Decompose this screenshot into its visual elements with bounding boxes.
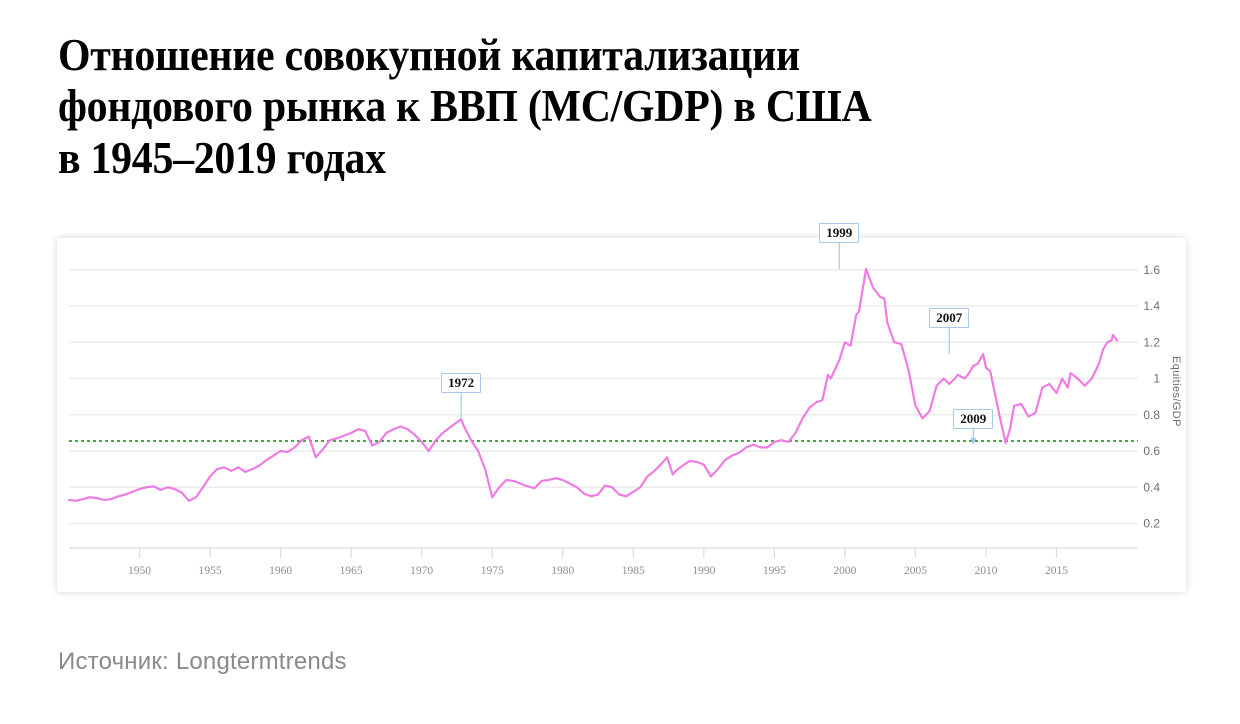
svg-text:0.8: 0.8 bbox=[1143, 408, 1160, 422]
svg-text:1.4: 1.4 bbox=[1143, 299, 1160, 313]
svg-text:1950: 1950 bbox=[128, 565, 151, 577]
svg-text:2000: 2000 bbox=[833, 565, 856, 577]
annotation-1972[interactable]: 1972 bbox=[441, 373, 481, 393]
svg-text:1.6: 1.6 bbox=[1143, 263, 1160, 277]
svg-text:1970: 1970 bbox=[410, 565, 433, 577]
svg-text:2010: 2010 bbox=[974, 565, 997, 577]
annotation-2009[interactable]: 2009 bbox=[953, 409, 993, 429]
mc-gdp-line-chart: 0.20.40.60.811.21.41.6195019551960196519… bbox=[57, 238, 1186, 592]
source-label: Источник: bbox=[58, 648, 169, 675]
svg-text:1.2: 1.2 bbox=[1143, 335, 1160, 349]
source-line: Источник: Longtermtrends bbox=[58, 648, 347, 676]
svg-text:1985: 1985 bbox=[622, 565, 645, 577]
annotation-1999[interactable]: 1999 bbox=[819, 223, 859, 243]
annotation-2007[interactable]: 2007 bbox=[929, 308, 969, 328]
svg-text:2015: 2015 bbox=[1045, 565, 1068, 577]
y-axis-title: Equities/GDP bbox=[1170, 356, 1182, 427]
svg-text:1980: 1980 bbox=[551, 565, 574, 577]
chart-card: 0.20.40.60.811.21.41.6195019551960196519… bbox=[57, 238, 1186, 592]
page-title: Отношение совокупной капитализации фондо… bbox=[58, 30, 1072, 184]
infographic-page: Отношение совокупной капитализации фондо… bbox=[0, 0, 1240, 724]
svg-text:0.6: 0.6 bbox=[1143, 444, 1160, 458]
svg-text:0.4: 0.4 bbox=[1143, 480, 1160, 494]
svg-text:0.2: 0.2 bbox=[1143, 517, 1160, 531]
svg-text:1995: 1995 bbox=[763, 565, 786, 577]
svg-text:1955: 1955 bbox=[199, 565, 222, 577]
svg-text:1: 1 bbox=[1153, 372, 1160, 386]
source-value: Longtermtrends bbox=[176, 648, 347, 675]
svg-text:1975: 1975 bbox=[481, 565, 504, 577]
svg-text:2005: 2005 bbox=[904, 565, 927, 577]
svg-text:1965: 1965 bbox=[340, 565, 363, 577]
svg-text:1960: 1960 bbox=[269, 565, 292, 577]
chart-plot-area: 0.20.40.60.811.21.41.6195019551960196519… bbox=[57, 238, 1186, 592]
svg-text:1990: 1990 bbox=[692, 565, 715, 577]
